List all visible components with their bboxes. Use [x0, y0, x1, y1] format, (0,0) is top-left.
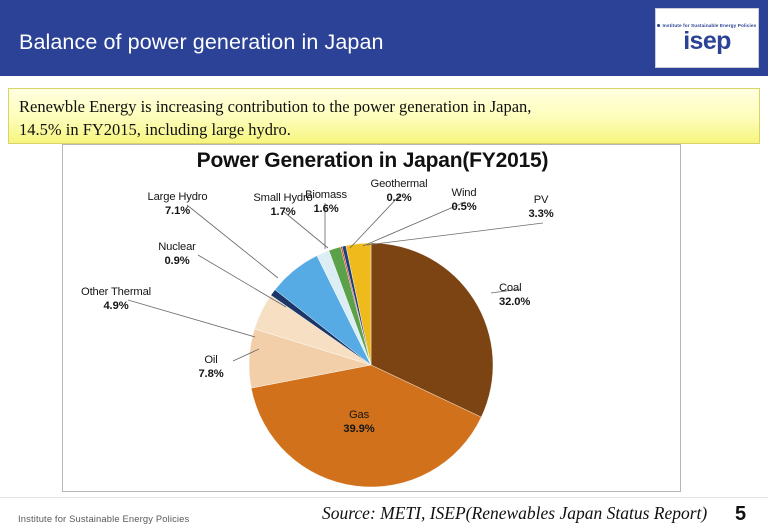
pie-label-nuclear-value: 0.9% — [143, 255, 211, 269]
page-title: Balance of power generation in Japan — [19, 30, 384, 55]
pie-label-nuclear-name: Nuclear — [158, 241, 196, 253]
pie-slice-group — [249, 243, 493, 487]
pie-label-other-thermal: Other Thermal 4.9% — [67, 286, 165, 313]
pie-label-geothermal-name: Geothermal — [371, 178, 428, 190]
summary-callout: Renewble Energy is increasing contributi… — [8, 88, 760, 144]
pie-label-biomass: Biomass 1.6% — [291, 189, 361, 216]
pie-label-biomass-value: 1.6% — [291, 203, 361, 217]
pie-label-oil-name: Oil — [204, 354, 217, 366]
pie-label-pv: PV 3.3% — [511, 194, 571, 221]
pie-label-other-thermal-name: Other Thermal — [81, 286, 151, 298]
footer-divider — [0, 497, 768, 498]
leader-line-pv — [367, 223, 543, 245]
pie-label-large-hydro: Large Hydro 7.1% — [125, 191, 230, 218]
logo-wordmark: isep — [683, 29, 731, 54]
pie-label-wind-value: 0.5% — [431, 201, 497, 215]
leader-line-nuclear — [198, 255, 286, 307]
pie-label-gas-name: Gas — [349, 409, 369, 421]
isep-logo: Institute for Sustainable Energy Policie… — [655, 8, 759, 68]
callout-line-1: Renewble Energy is increasing contributi… — [19, 96, 747, 119]
footer-organization: Institute for Sustainable Energy Policie… — [18, 513, 189, 524]
pie-label-geothermal-value: 0.2% — [355, 192, 443, 206]
logo-dot-icon — [657, 23, 660, 26]
pie-label-geothermal: Geothermal 0.2% — [355, 178, 443, 205]
pie-label-pv-name: PV — [534, 194, 549, 206]
pie-label-biomass-name: Biomass — [305, 189, 347, 201]
pie-label-oil-value: 7.8% — [189, 368, 233, 382]
footer-source: Source: METI, ISEP(Renewables Japan Stat… — [322, 503, 707, 524]
pie-label-nuclear: Nuclear 0.9% — [143, 241, 211, 268]
pie-label-wind-name: Wind — [452, 187, 477, 199]
chart-frame: Power Generation in Japan(FY2015) — [62, 144, 681, 492]
pie-label-gas: Gas 39.9% — [329, 409, 389, 436]
logo-tagline-row: Institute for Sustainable Energy Policie… — [657, 22, 756, 27]
logo-tagline-text: Institute for Sustainable Energy Policie… — [663, 22, 757, 27]
pie-label-coal-value: 32.0% — [499, 296, 571, 310]
pie-label-large-hydro-value: 7.1% — [125, 205, 230, 219]
pie-label-gas-value: 39.9% — [329, 423, 389, 437]
slide: Balance of power generation in Japan Ins… — [0, 0, 768, 532]
page-number: 5 — [735, 503, 746, 526]
pie-label-large-hydro-name: Large Hydro — [148, 191, 208, 203]
pie-label-oil: Oil 7.8% — [189, 354, 233, 381]
pie-label-coal: Coal 32.0% — [499, 282, 571, 309]
pie-label-other-thermal-value: 4.9% — [67, 300, 165, 314]
callout-line-2: 14.5% in FY2015, including large hydro. — [19, 119, 747, 142]
pie-label-pv-value: 3.3% — [511, 208, 571, 222]
pie-label-wind: Wind 0.5% — [431, 187, 497, 214]
pie-label-coal-name: Coal — [499, 282, 521, 294]
